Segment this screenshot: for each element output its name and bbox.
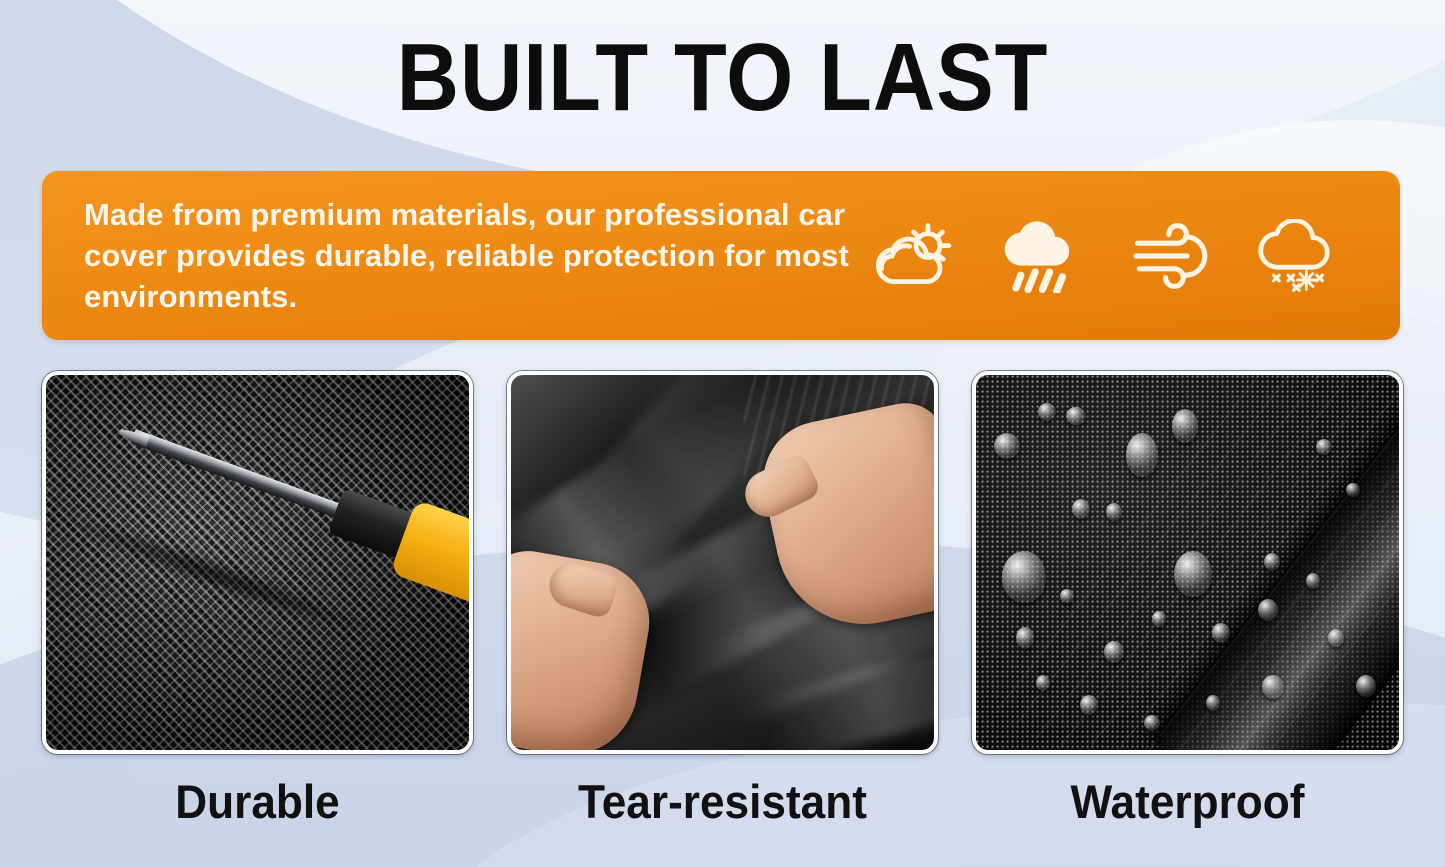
water-droplet bbox=[1106, 503, 1122, 521]
water-droplet bbox=[1262, 675, 1284, 699]
feature-image-tear-resistant bbox=[507, 371, 938, 754]
water-droplet bbox=[1002, 551, 1046, 603]
water-droplet bbox=[1036, 675, 1050, 691]
water-droplet bbox=[1328, 629, 1344, 647]
page-title: BUILT TO LAST bbox=[72, 28, 1373, 128]
water-droplet bbox=[1072, 499, 1090, 519]
rain-cloud-icon bbox=[1000, 219, 1080, 293]
water-droplet bbox=[1060, 589, 1074, 603]
feature-card-durable: Durable bbox=[42, 371, 473, 829]
water-droplet bbox=[1038, 403, 1056, 421]
water-droplet bbox=[1080, 695, 1098, 715]
water-droplet bbox=[1144, 715, 1160, 731]
water-droplet bbox=[1212, 623, 1230, 643]
water-droplet bbox=[1174, 551, 1212, 597]
feature-caption-durable: Durable bbox=[55, 774, 460, 829]
weather-icon-group bbox=[872, 219, 1378, 293]
water-droplet bbox=[1264, 553, 1280, 571]
water-droplet bbox=[1346, 483, 1360, 497]
water-droplet bbox=[1316, 439, 1332, 455]
banner-description: Made from premium materials, our profess… bbox=[84, 194, 872, 318]
water-droplet bbox=[1206, 695, 1220, 711]
water-droplet bbox=[1104, 641, 1124, 663]
water-droplet bbox=[1066, 407, 1086, 425]
feature-image-waterproof bbox=[972, 371, 1403, 754]
feature-banner: Made from premium materials, our profess… bbox=[42, 171, 1400, 340]
feature-card-list: Durable Tear-resistant bbox=[42, 371, 1403, 829]
feature-card-waterproof: Waterproof bbox=[972, 371, 1403, 829]
sun-cloud-icon bbox=[872, 219, 952, 293]
water-droplet bbox=[1258, 599, 1278, 621]
water-droplet bbox=[1356, 675, 1376, 697]
water-droplet bbox=[1126, 433, 1158, 477]
feature-caption-tear-resistant: Tear-resistant bbox=[520, 774, 925, 829]
water-droplet bbox=[1306, 573, 1320, 589]
feature-caption-waterproof: Waterproof bbox=[985, 774, 1390, 829]
feature-card-tear-resistant: Tear-resistant bbox=[507, 371, 938, 829]
product-infographic: BUILT TO LAST Made from premium material… bbox=[0, 0, 1445, 867]
snow-cloud-icon bbox=[1256, 219, 1336, 293]
screwdriver-shaft bbox=[130, 429, 349, 521]
water-droplet bbox=[1152, 611, 1166, 627]
water-droplet bbox=[994, 433, 1020, 459]
feature-image-durable bbox=[42, 371, 473, 754]
water-droplet bbox=[1172, 409, 1198, 443]
wind-icon bbox=[1128, 219, 1208, 293]
water-droplet bbox=[1016, 627, 1034, 649]
